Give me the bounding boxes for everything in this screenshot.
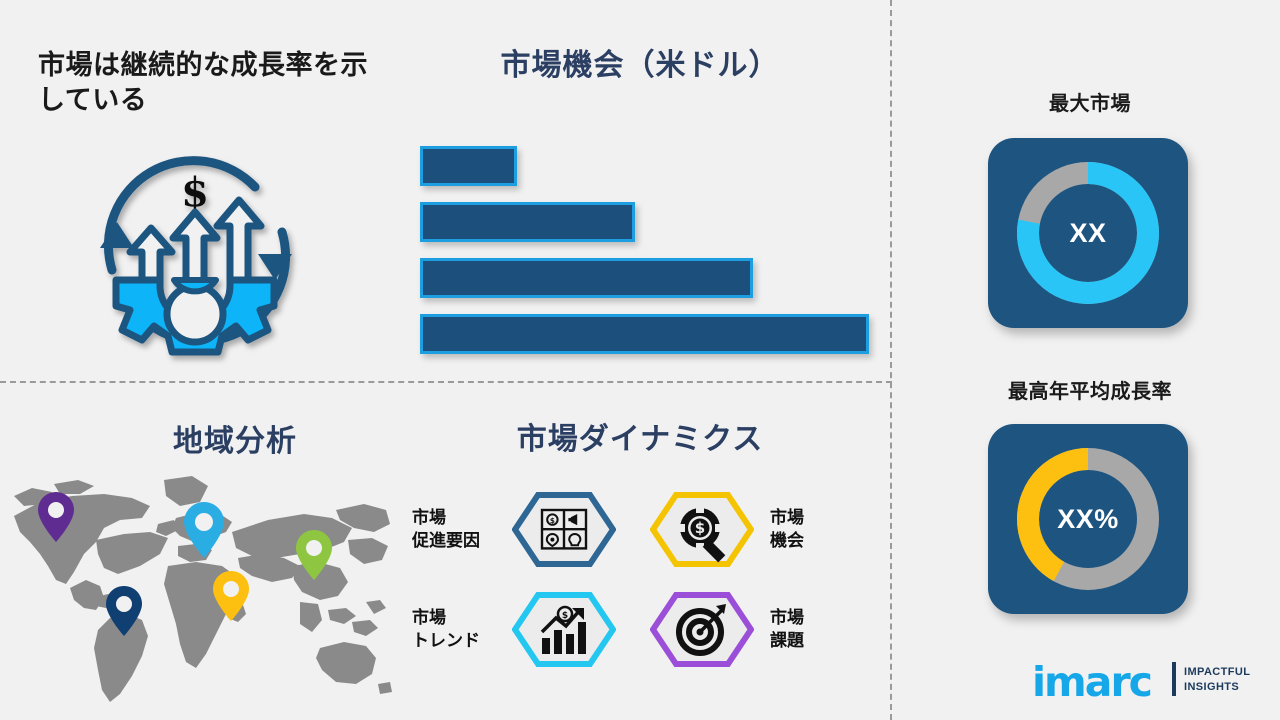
opportunity-heading: 市場機会（米ドル） <box>410 48 870 84</box>
drivers-label-line1: 市場 <box>412 507 502 530</box>
svg-text:$: $ <box>562 611 568 621</box>
highest-cagr-heading: 最高年平均成長率 <box>940 380 1240 406</box>
growth-heading: 市場は継続的な成長率を示している <box>38 48 388 117</box>
tagline-line-1: IMPACTFUL <box>1184 666 1250 678</box>
opportunity-label-line1: 市場 <box>770 507 860 530</box>
tagline-line-2: INSIGHTS <box>1184 681 1239 693</box>
drivers-hex[interactable]: $ <box>512 492 616 567</box>
dynamics-item-challenges[interactable]: 市場 課題 <box>650 592 850 667</box>
imarc-logo: imarc IMPACTFUL INSIGHTS <box>1032 656 1250 704</box>
regional-analysis-heading: 地域分析 <box>120 424 350 460</box>
opportunity-label-line2: 機会 <box>770 530 860 553</box>
dynamics-item-trends[interactable]: 市場 トレンド $ <box>412 592 612 667</box>
challenges-label-line1: 市場 <box>770 607 860 630</box>
opportunity-label: 市場 機会 <box>770 492 860 567</box>
market-growth-icon: $ <box>70 128 320 368</box>
largest-market-heading: 最大市場 <box>940 92 1240 118</box>
svg-text:$: $ <box>695 519 705 537</box>
horizontal-divider <box>0 381 892 383</box>
svg-text:$: $ <box>550 516 555 525</box>
drivers-label: 市場 促進要因 <box>412 492 502 567</box>
bar-1 <box>420 146 517 186</box>
bar-4 <box>420 314 869 354</box>
trends-label-line1: 市場 <box>412 607 502 630</box>
bar-3 <box>420 258 753 298</box>
trends-label: 市場 トレンド <box>412 592 502 667</box>
opportunity-hex[interactable]: $ <box>650 492 754 567</box>
dynamics-item-opportunity[interactable]: $ 市場 機会 <box>650 492 850 567</box>
market-opportunity-bar-chart <box>420 146 880 352</box>
imarc-wordmark: imarc <box>1032 658 1151 706</box>
trends-hex[interactable]: $ <box>512 592 616 667</box>
drivers-label-line2: 促進要因 <box>412 530 502 553</box>
bar-2 <box>420 202 635 242</box>
highest-cagr-card: XX% <box>988 424 1188 614</box>
trends-label-line2: トレンド <box>412 630 502 653</box>
largest-market-card: XX <box>988 138 1188 328</box>
world-map <box>0 462 400 712</box>
logo-divider-bar <box>1172 662 1176 696</box>
market-dynamics-heading: 市場ダイナミクス <box>420 422 860 458</box>
largest-market-value: XX <box>988 138 1188 328</box>
highest-cagr-value: XX% <box>988 424 1188 614</box>
challenges-hex[interactable] <box>650 592 754 667</box>
challenges-label: 市場 課題 <box>770 592 860 667</box>
slide-canvas: 市場は継続的な成長率を示している $ <box>0 0 1280 720</box>
dynamics-item-drivers[interactable]: 市場 促進要因 $ <box>412 492 612 567</box>
vertical-divider <box>890 0 892 720</box>
challenges-label-line2: 課題 <box>770 630 860 653</box>
